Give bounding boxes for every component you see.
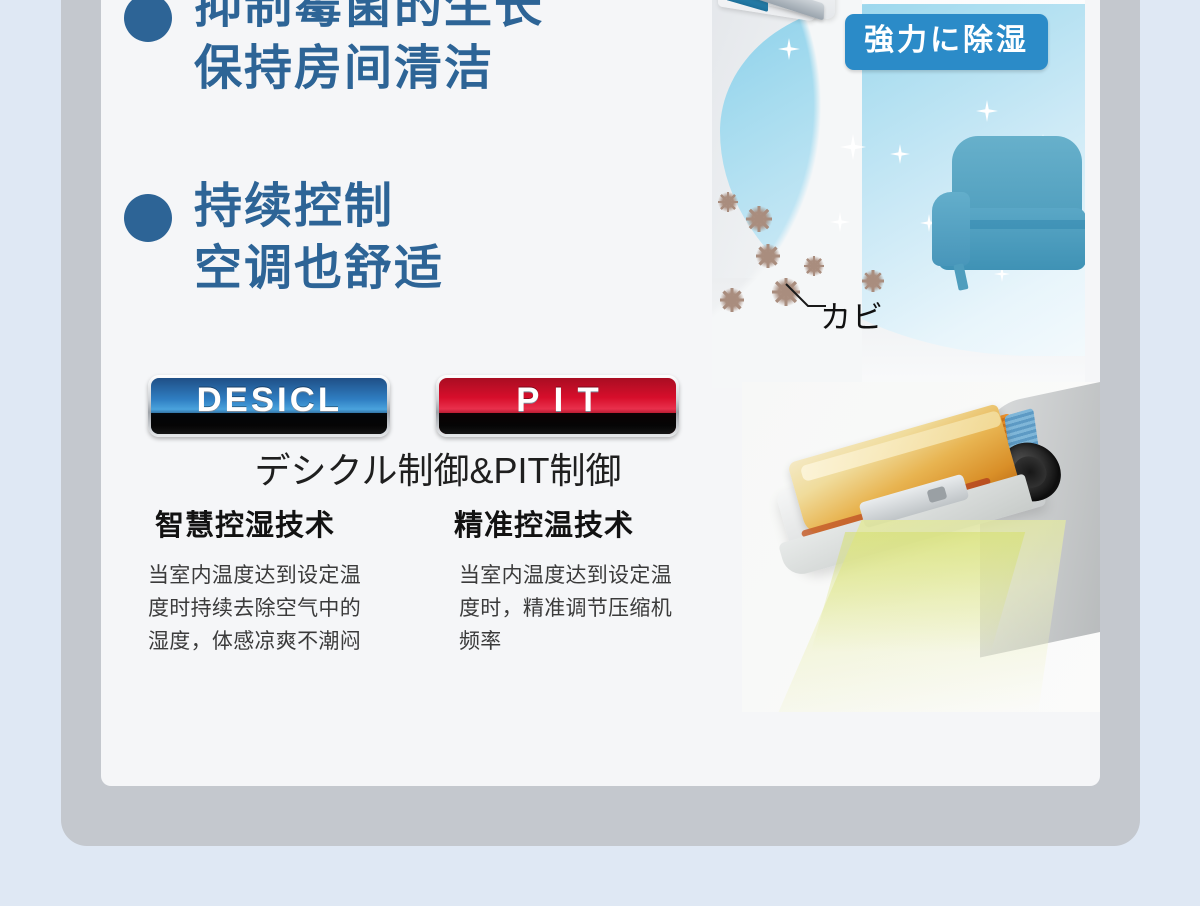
body-line: 当室内温度达到设定温 <box>459 559 744 592</box>
mold-spore-icon <box>720 288 744 312</box>
bullet-item-1-text: 抑制霉菌的生长 保持房间清洁 <box>194 0 544 100</box>
mold-spore-icon <box>804 256 824 276</box>
bullet-item-1: 抑制霉菌的生长 保持房间清洁 <box>124 0 544 100</box>
desicl-logo-badge: DESICL <box>148 375 390 437</box>
filled-circle-icon <box>124 0 172 42</box>
desicl-badge-inner: DESICL <box>151 378 387 434</box>
room-illustration-image: カビ 強力に除湿 <box>712 0 1085 388</box>
ac-airflow-glow-inner <box>811 532 1025 652</box>
feature-column-1-body: 当室内温度达到设定温 度时持续去除空气中的 湿度，体感凉爽不潮闷 <box>148 559 438 658</box>
content-card: 抑制霉菌的生长 保持房间清洁 持续控制 空调也舒适 DESICL PIT <box>101 0 1100 786</box>
page-root: 抑制霉菌的生长 保持房间清洁 持续控制 空调也舒适 DESICL PIT <box>0 0 1200 906</box>
body-line: 度时，精准调节压缩机 <box>459 592 744 625</box>
feature-column-2-title: 精准控温技术 <box>454 506 744 546</box>
sofa-armrest <box>932 192 970 266</box>
feature-column-2: 精准控温技术 当室内温度达到设定温 度时，精准调节压缩机 频率 <box>454 506 744 658</box>
strong-dehumidify-badge: 強力に除湿 <box>845 14 1048 70</box>
bullet-line: 持续控制 <box>194 176 444 238</box>
pit-badge-inner: PIT <box>439 378 676 434</box>
ac-cutaway-image <box>742 382 1100 712</box>
bullet-item-2-text: 持续控制 空调也舒适 <box>194 176 444 300</box>
bullet-item-2: 持续控制 空调也舒适 <box>124 176 444 300</box>
japanese-subtitle: デシクル制御&PIT制御 <box>148 449 728 493</box>
feature-column-2-body: 当室内温度达到设定温 度时，精准调节压缩机 频率 <box>454 559 744 658</box>
feature-column-1-title: 智慧控湿技术 <box>148 506 438 546</box>
sofa-seam <box>970 220 1085 229</box>
body-line: 频率 <box>459 625 744 658</box>
bullet-line: 空调也舒适 <box>194 238 444 300</box>
mold-spore-icon <box>756 244 780 268</box>
kabi-label: カビ <box>820 301 884 335</box>
strong-dehumidify-label: 強力に除湿 <box>864 23 1029 59</box>
logo-row: DESICL PIT <box>148 375 728 441</box>
body-line: 当室内温度达到设定温 <box>148 559 438 592</box>
mold-spore-icon <box>862 270 884 292</box>
pit-badge-label: PIT <box>502 378 613 422</box>
mold-spore-icon <box>718 192 738 212</box>
room-scene: カビ 強力に除湿 <box>712 0 1085 388</box>
bullet-line: 保持房间清洁 <box>194 38 544 100</box>
bullet-line: 抑制霉菌的生长 <box>194 0 544 38</box>
body-line: 湿度，体感凉爽不潮闷 <box>148 625 438 658</box>
feature-column-1: 智慧控湿技术 当室内温度达到设定温 度时持续去除空气中的 湿度，体感凉爽不潮闷 <box>148 506 438 658</box>
desicl-badge-label: DESICL <box>196 378 342 422</box>
filled-circle-icon <box>124 194 172 242</box>
feature-columns: 智慧控湿技术 当室内温度达到设定温 度时持续去除空气中的 湿度，体感凉爽不潮闷 … <box>148 506 748 658</box>
mold-spore-icon <box>746 206 772 232</box>
pit-logo-badge: PIT <box>436 375 679 437</box>
body-line: 度时持续去除空气中的 <box>148 592 438 625</box>
